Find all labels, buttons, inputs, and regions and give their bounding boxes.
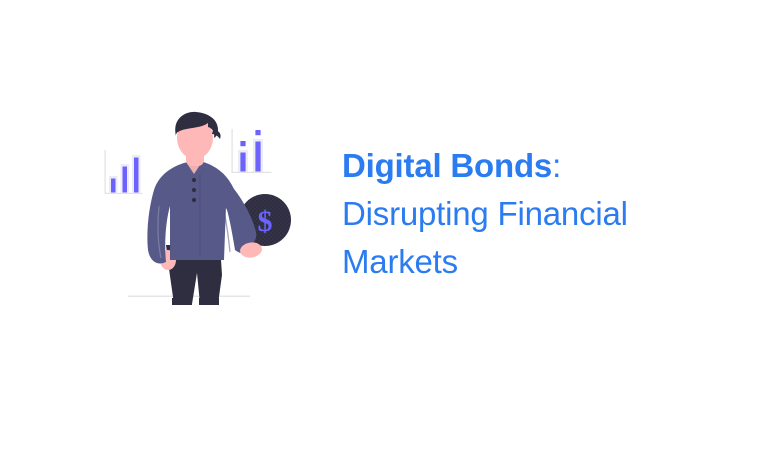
left-bar-chart-icon bbox=[105, 150, 143, 194]
headline-line-3: Markets bbox=[342, 238, 738, 286]
right-people-chart-icon bbox=[232, 129, 272, 173]
headline-bold-text: Digital Bonds bbox=[342, 147, 552, 184]
slide-canvas: $ bbox=[0, 0, 768, 461]
headline-line-2: Disrupting Financial bbox=[342, 190, 738, 238]
headline-line-1: Digital Bonds: bbox=[342, 142, 738, 190]
person-figure bbox=[147, 112, 263, 305]
svg-text:$: $ bbox=[258, 205, 273, 238]
headline-block: Digital Bonds: Disrupting Financial Mark… bbox=[342, 142, 738, 286]
hero-illustration: $ bbox=[96, 110, 306, 310]
headline-colon: : bbox=[552, 147, 561, 184]
